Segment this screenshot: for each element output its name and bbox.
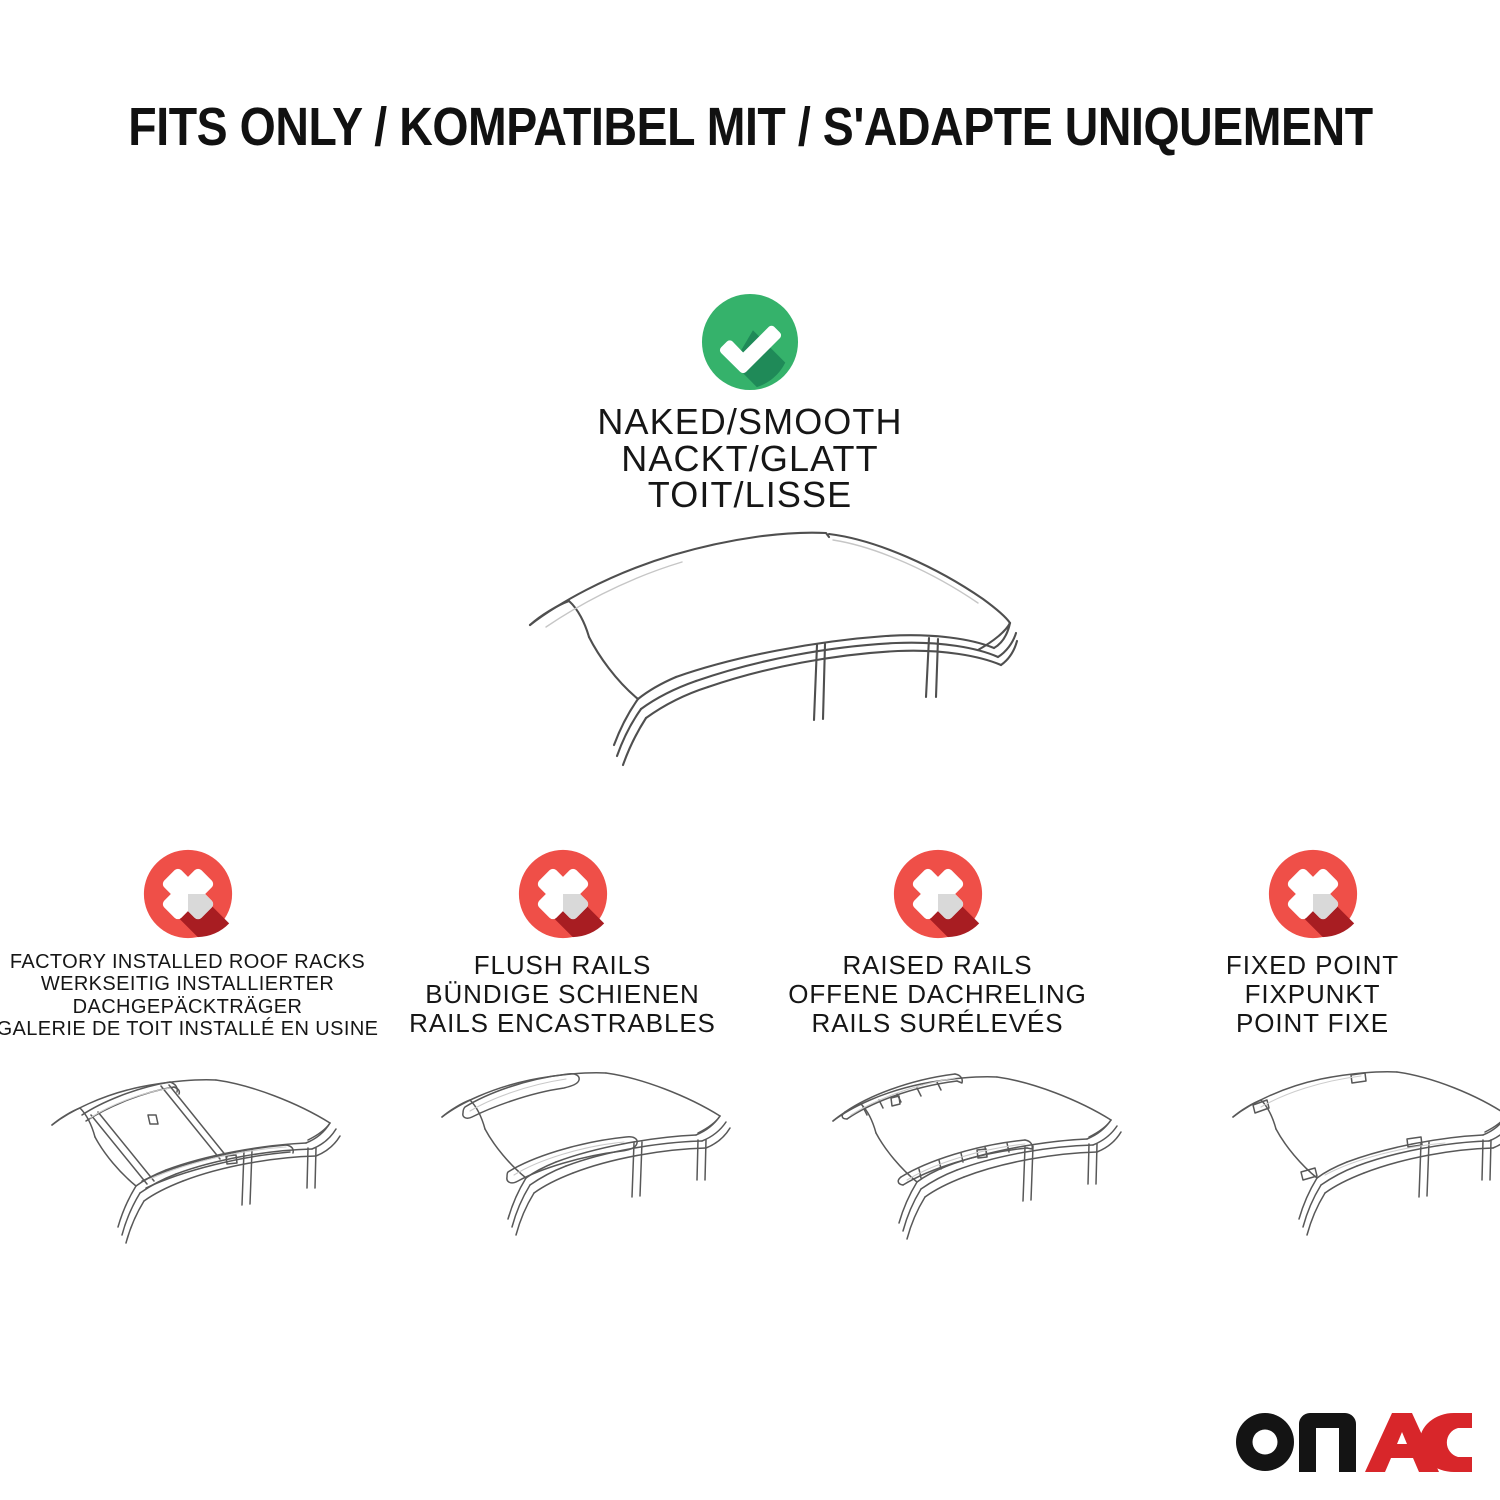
omac-logo	[1232, 1404, 1472, 1474]
incompatible-column-flush-rails: FLUSH RAILS BÜNDIGE SCHIENEN RAILS ENCAS…	[375, 845, 750, 1041]
incompatible-column-fixed-point: FIXED POINT FIXPUNKT POINT FIXE	[1125, 845, 1500, 1041]
fixed-point-illustration	[1175, 1055, 1500, 1270]
incompatible-column-raised-rails: RAISED RAILS OFFENE DACHRELING RAILS SUR…	[750, 845, 1125, 1041]
cross-circle-icon	[889, 845, 987, 943]
factory-roof-rack-illustration	[30, 1055, 430, 1270]
page-title: FITS ONLY / KOMPATIBEL MIT / S'ADAPTE UN…	[0, 96, 1500, 158]
incompatible-label-de-2: DACHGEPÄCKTRÄGER	[0, 996, 378, 1018]
incompatible-label-en: FLUSH RAILS	[409, 951, 716, 980]
cross-circle-icon	[514, 845, 612, 943]
incompatible-section: FACTORY INSTALLED ROOF RACKS WERKSEITIG …	[0, 845, 1500, 1041]
incompatible-label-de-1: WERKSEITIG INSTALLIERTER	[0, 973, 378, 995]
incompatible-label-fr: GALERIE DE TOIT INSTALLÉ EN USINE	[0, 1018, 378, 1040]
compatible-labels: NAKED/SMOOTH NACKT/GLATT TOIT/LISSE	[0, 404, 1500, 514]
incompatible-label-en: FIXED POINT	[1226, 951, 1399, 980]
incompatible-label-en: FACTORY INSTALLED ROOF RACKS	[0, 951, 378, 973]
incompatible-label-fr: POINT FIXE	[1226, 1009, 1399, 1038]
flush-rails-illustration	[420, 1055, 820, 1270]
incompatible-labels: FIXED POINT FIXPUNKT POINT FIXE	[1226, 951, 1399, 1038]
incompatible-column-factory-roof-racks: FACTORY INSTALLED ROOF RACKS WERKSEITIG …	[0, 845, 375, 1041]
incompatible-label-de: OFFENE DACHRELING	[788, 980, 1086, 1009]
incompatible-label-fr: RAILS ENCASTRABLES	[409, 1009, 716, 1038]
incompatible-labels: RAISED RAILS OFFENE DACHRELING RAILS SUR…	[788, 951, 1086, 1038]
incompatible-label-de: BÜNDIGE SCHIENEN	[409, 980, 716, 1009]
page-title-text: FITS ONLY / KOMPATIBEL MIT / S'ADAPTE UN…	[128, 96, 1372, 158]
incompatible-labels: FACTORY INSTALLED ROOF RACKS WERKSEITIG …	[0, 951, 378, 1041]
raised-rails-illustration	[805, 1055, 1205, 1270]
incompatible-label-fr: RAILS SURÉLEVÉS	[788, 1009, 1086, 1038]
check-circle-icon	[701, 293, 799, 391]
cross-circle-icon	[139, 845, 237, 943]
incompatible-labels: FLUSH RAILS BÜNDIGE SCHIENEN RAILS ENCAS…	[409, 951, 716, 1038]
cross-circle-icon	[1264, 845, 1362, 943]
compatible-label-fr: TOIT/LISSE	[0, 477, 1500, 514]
incompatible-label-en: RAISED RAILS	[788, 951, 1086, 980]
compatible-label-en: NAKED/SMOOTH	[0, 404, 1500, 441]
smooth-roof-illustration	[486, 513, 1056, 813]
compatible-label-de: NACKT/GLATT	[0, 441, 1500, 478]
incompatible-label-de: FIXPUNKT	[1226, 980, 1399, 1009]
compatible-section: NAKED/SMOOTH NACKT/GLATT TOIT/LISSE	[0, 293, 1500, 514]
